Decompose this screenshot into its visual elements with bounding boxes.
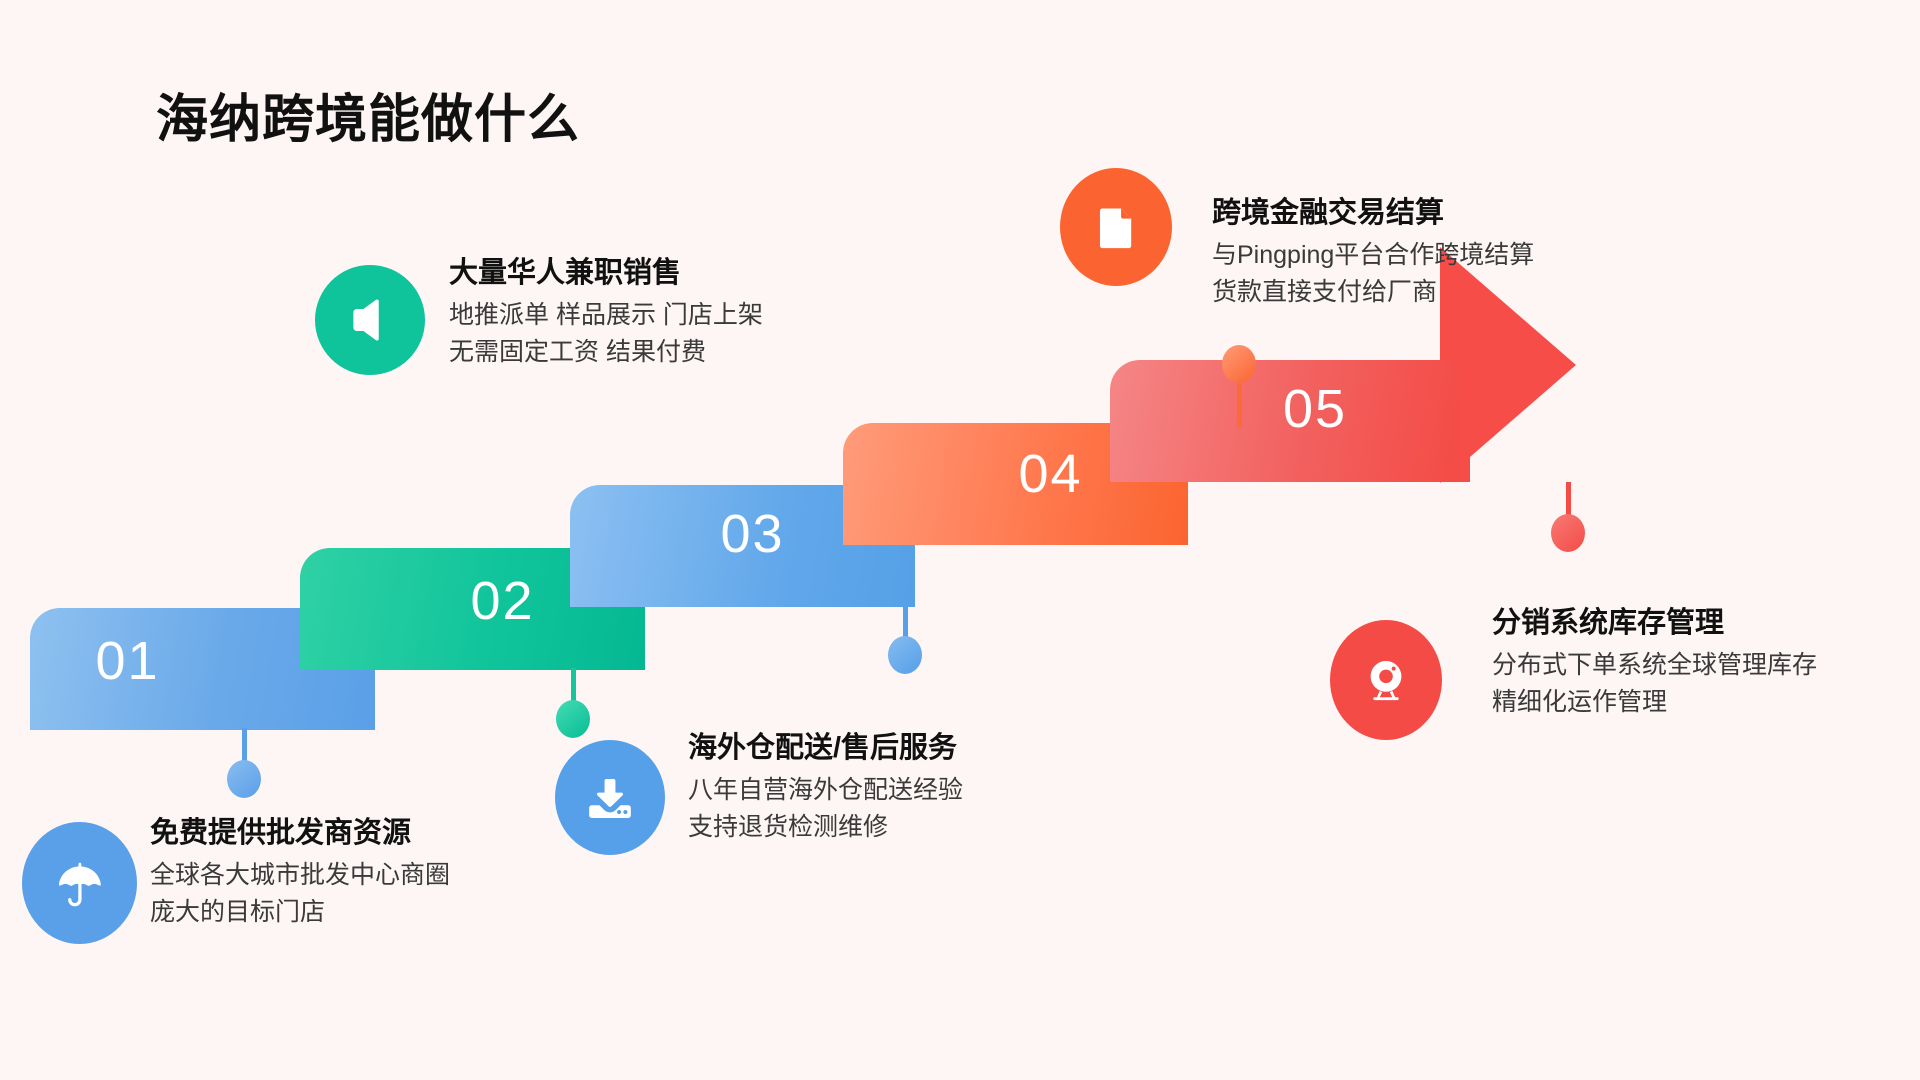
step-body-line: 货款直接支付给厂商 — [1212, 274, 1534, 310]
step-body-04: 与Pingping平台合作跨境结算 货款直接支付给厂商 — [1212, 237, 1534, 310]
step-icon-01[interactable] — [22, 822, 137, 944]
step-info-01: 免费提供批发商资源 全球各大城市批发中心商圈 庞大的目标门店 — [150, 815, 450, 930]
step-body-line: 与Pingping平台合作跨境结算 — [1212, 237, 1534, 273]
connector-dot-03 — [888, 636, 922, 674]
umbrella-icon — [51, 854, 109, 912]
step-info-04: 跨境金融交易结算 与Pingping平台合作跨境结算 货款直接支付给厂商 — [1212, 195, 1534, 310]
step-body-01: 全球各大城市批发中心商圈 庞大的目标门店 — [150, 857, 450, 930]
step-body-line: 八年自营海外仓配送经验 — [688, 772, 963, 808]
connector-dot-05 — [1551, 514, 1585, 552]
step-body-line: 支持退货检测维修 — [688, 809, 963, 845]
step-number-01: 01 — [30, 634, 225, 688]
webcam-icon — [1357, 651, 1415, 709]
step-heading-04: 跨境金融交易结算 — [1212, 195, 1534, 231]
step-heading-02: 大量华人兼职销售 — [449, 255, 763, 291]
step-body-line: 全球各大城市批发中心商圈 — [150, 857, 450, 893]
step-body-line: 庞大的目标门店 — [150, 894, 450, 930]
step-icon-04[interactable] — [1060, 168, 1172, 286]
step-body-line: 地推派单 样品展示 门店上架 — [449, 297, 763, 333]
step-info-03: 海外仓配送/售后服务 八年自营海外仓配送经验 支持退货检测维修 — [688, 730, 963, 845]
step-bar-05[interactable]: 05 — [1110, 360, 1460, 482]
megaphone-icon — [342, 292, 398, 348]
step-heading-03: 海外仓配送/售后服务 — [688, 730, 963, 766]
page-title: 海纳跨境能做什么 — [156, 92, 580, 149]
step-icon-05[interactable] — [1330, 620, 1442, 740]
step-body-line: 精细化运作管理 — [1492, 684, 1817, 720]
step-icon-03[interactable] — [555, 740, 665, 855]
step-body-03: 八年自营海外仓配送经验 支持退货检测维修 — [688, 772, 963, 845]
document-icon — [1089, 198, 1143, 256]
step-heading-05: 分销系统库存管理 — [1492, 605, 1817, 641]
step-number-05: 05 — [1170, 382, 1460, 436]
connector-dot-01 — [227, 760, 261, 798]
step-heading-01: 免费提供批发商资源 — [150, 815, 450, 851]
step-body-02: 地推派单 样品展示 门店上架 无需固定工资 结果付费 — [449, 297, 763, 370]
step-icon-02[interactable] — [315, 265, 425, 375]
step-info-05: 分销系统库存管理 分布式下单系统全球管理库存 精细化运作管理 — [1492, 605, 1817, 720]
connector-dot-02 — [556, 700, 590, 738]
step-body-line: 分布式下单系统全球管理库存 — [1492, 647, 1817, 683]
connector-dot-04 — [1222, 345, 1256, 383]
step-info-02: 大量华人兼职销售 地推派单 样品展示 门店上架 无需固定工资 结果付费 — [449, 255, 763, 370]
infographic-canvas: 海纳跨境能做什么 01 02 03 04 05 — [0, 0, 1920, 1080]
download-inbox-icon — [581, 769, 639, 827]
step-body-05: 分布式下单系统全球管理库存 精细化运作管理 — [1492, 647, 1817, 720]
step-body-line: 无需固定工资 结果付费 — [449, 334, 763, 370]
